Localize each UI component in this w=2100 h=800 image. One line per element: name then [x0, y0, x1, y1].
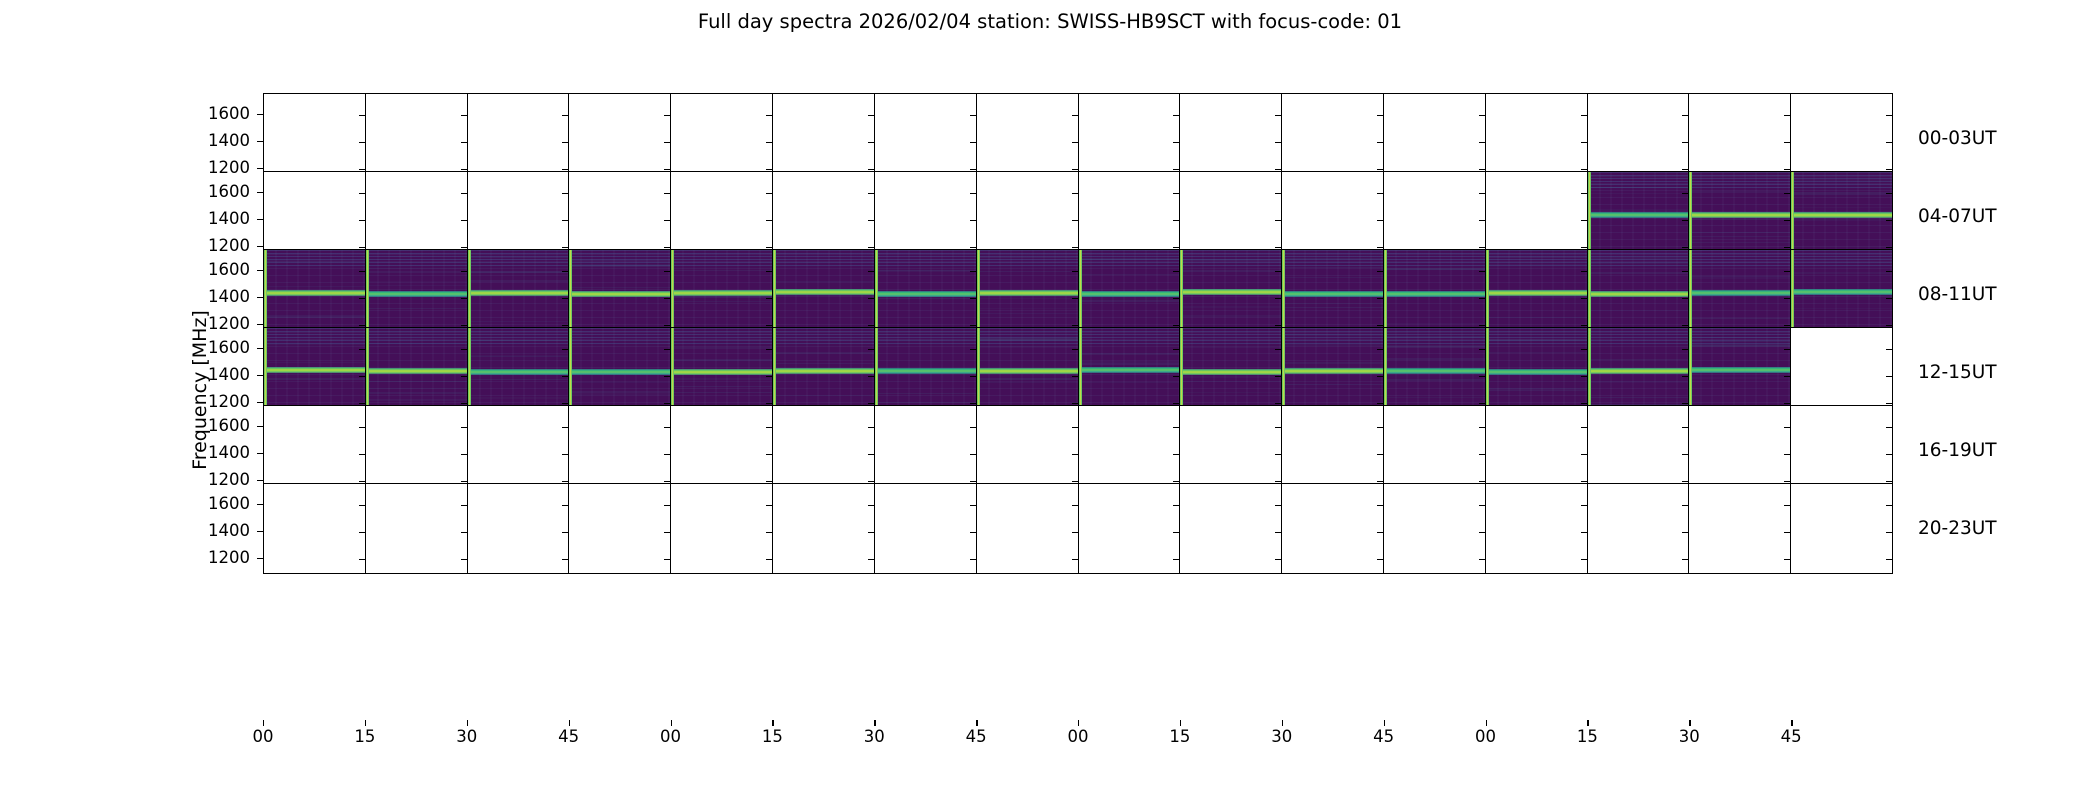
- spectrogram-interference-line: [1588, 310, 1689, 311]
- spectrogram-panel[interactable]: [671, 406, 773, 495]
- spectrogram-panel[interactable]: [1791, 94, 1892, 183]
- spectrogram-panel[interactable]: [1384, 484, 1486, 573]
- spectrogram-interference-line: [1282, 334, 1383, 336]
- panel-y-tick: [1072, 271, 1078, 272]
- panel-y-tick: [1072, 193, 1078, 194]
- spectrogram-panel[interactable]: [1791, 484, 1892, 573]
- panel-y-tick: [461, 505, 467, 506]
- spectrogram-empty: [468, 406, 569, 495]
- spectrogram-data: [264, 250, 365, 339]
- panel-y-tick: [1682, 427, 1688, 428]
- row-label-04-07ut: 04-07UT: [1918, 206, 1997, 228]
- calibration-stripe: [264, 328, 267, 417]
- spectrogram-panel[interactable]: [773, 484, 875, 573]
- panel-y-tick: [1173, 505, 1179, 506]
- panel-y-tick: [359, 298, 365, 299]
- spectrogram-data: [569, 328, 670, 417]
- spectrogram-empty: [671, 484, 772, 573]
- calibration-stripe: [366, 250, 369, 339]
- spectrogram-empty: [1588, 94, 1689, 183]
- panel-y-tick: [359, 505, 365, 506]
- spectrogram-empty: [671, 172, 772, 261]
- panel-y-tick: [359, 376, 365, 377]
- spectrogram-panel[interactable]: [875, 250, 977, 339]
- panel-y-tick: [1173, 532, 1179, 533]
- panel-y-tick: [664, 427, 670, 428]
- spectrogram-empty: [1588, 484, 1689, 573]
- spectrogram-panel[interactable]: [1079, 484, 1181, 573]
- spectrogram-panel[interactable]: [1486, 406, 1588, 495]
- spectrogram-panel[interactable]: [468, 406, 570, 495]
- panel-y-tick: [359, 142, 365, 143]
- spectrogram-interference-line: [1689, 191, 1790, 193]
- spectrogram-interference-line: [1588, 187, 1689, 188]
- spectrogram-panel[interactable]: [1486, 250, 1588, 339]
- spectrogram-panel[interactable]: [875, 94, 977, 183]
- spectrogram-panel[interactable]: [1689, 328, 1791, 417]
- calibration-stripe: [264, 250, 267, 339]
- calibration-stripe: [1079, 328, 1082, 417]
- spectrogram-interference-line: [569, 264, 670, 265]
- panel-y-tick: [1479, 559, 1485, 560]
- panel-y-tick: [461, 376, 467, 377]
- panel-y-tick: [1682, 193, 1688, 194]
- spectrogram-empty: [875, 484, 976, 573]
- hydrogen-line-band: [773, 368, 874, 374]
- spectrogram-panel[interactable]: [1588, 250, 1690, 339]
- calibration-stripe: [468, 328, 471, 417]
- spectrogram-interference-line: [366, 268, 467, 269]
- spectrogram-interference-line: [1384, 346, 1485, 348]
- panel-y-tick: [562, 271, 568, 272]
- panel-y-tick: [1173, 559, 1179, 560]
- spectrogram-panel[interactable]: [264, 328, 366, 417]
- panel-y-tick: [562, 559, 568, 560]
- spectrogram-empty: [977, 484, 1078, 573]
- y-tick-mark: [257, 192, 263, 193]
- spectrogram-interference-line: [468, 271, 569, 273]
- spectrogram-panel[interactable]: [1180, 406, 1282, 495]
- spectrogram-panel[interactable]: [1282, 250, 1384, 339]
- x-tick-mark: [1282, 720, 1283, 726]
- calibration-stripe: [773, 250, 776, 339]
- spectrogram-empty: [875, 406, 976, 495]
- panel-y-tick: [461, 115, 467, 116]
- spectrogram-panel[interactable]: [977, 94, 1079, 183]
- spectrogram-panel[interactable]: [671, 328, 773, 417]
- spectrogram-panel[interactable]: [1689, 250, 1791, 339]
- spectrogram-panel[interactable]: [366, 484, 468, 573]
- spectrogram-interference-line: [366, 285, 467, 286]
- panel-y-tick: [1072, 376, 1078, 377]
- spectrogram-panel[interactable]: [569, 406, 671, 495]
- hydrogen-line-band: [1486, 369, 1587, 375]
- spectrogram-panel[interactable]: [366, 406, 468, 495]
- spectrogram-panel[interactable]: [264, 406, 366, 495]
- spectrogram-data: [1791, 172, 1892, 261]
- panel-y-tick: [970, 532, 976, 533]
- spectrogram-interference-line: [977, 346, 1078, 348]
- spectrogram-panel[interactable]: [1282, 172, 1384, 261]
- panel-y-tick: [664, 220, 670, 221]
- calibration-stripe: [1384, 250, 1387, 339]
- x-tick-label: 00: [1466, 727, 1506, 746]
- spectrogram-interference-line: [1486, 352, 1587, 353]
- spectrogram-empty: [264, 484, 365, 573]
- spectrogram-panel[interactable]: [1384, 94, 1486, 183]
- spectrogram-upper-band-noise: [1079, 328, 1180, 344]
- spectrogram-panel[interactable]: [1791, 406, 1892, 495]
- spectrogram-data: [977, 328, 1078, 417]
- panel-y-tick: [1682, 559, 1688, 560]
- panel-y-tick: [461, 454, 467, 455]
- x-tick-label: 15: [1160, 727, 1200, 746]
- spectrogram-empty: [1282, 172, 1383, 261]
- spectrogram-empty: [1079, 172, 1180, 261]
- spectrogram-interference-line: [1791, 272, 1892, 274]
- panel-y-tick: [664, 271, 670, 272]
- panel-y-tick: [1173, 115, 1179, 116]
- spectrogram-panel[interactable]: [1791, 250, 1892, 339]
- spectrogram-empty: [468, 484, 569, 573]
- spectrogram-interference-line: [1791, 258, 1892, 259]
- spectrogram-panel[interactable]: [875, 484, 977, 573]
- panel-y-tick: [970, 142, 976, 143]
- spectrogram-panel[interactable]: [1689, 406, 1791, 495]
- spectrogram-panel[interactable]: [468, 94, 570, 183]
- panel-y-tick: [461, 559, 467, 560]
- panel-y-tick: [970, 454, 976, 455]
- spectrogram-panel[interactable]: [671, 94, 773, 183]
- spectrogram-data: [1180, 328, 1281, 417]
- spectrogram-interference-line: [977, 298, 1078, 299]
- spectrogram-interference-line: [1282, 307, 1383, 308]
- panel-y-tick: [1377, 115, 1383, 116]
- spectrogram-panel[interactable]: [569, 94, 671, 183]
- spectrogram-upper-band-noise: [1689, 250, 1790, 266]
- x-tick-label: 45: [956, 727, 996, 746]
- spectrogram-panel[interactable]: [1588, 172, 1690, 261]
- calibration-stripe: [1384, 328, 1387, 417]
- spectrogram-panel[interactable]: [977, 328, 1079, 417]
- spectrogram-panel[interactable]: [264, 94, 366, 183]
- panel-y-tick: [868, 115, 874, 116]
- panel-y-tick: [1377, 349, 1383, 350]
- spectrogram-empty: [1180, 484, 1281, 573]
- spectrogram-upper-band-noise: [977, 250, 1078, 266]
- spectrogram-interference-line: [1282, 303, 1383, 304]
- spectrogram-data: [1689, 328, 1790, 417]
- y-tick-label: 1200: [190, 549, 250, 567]
- panel-y-tick: [1784, 505, 1790, 506]
- spectrogram-interference-line: [1384, 336, 1485, 338]
- spectrogram-panel[interactable]: [1384, 406, 1486, 495]
- spectrogram-panel[interactable]: [1384, 328, 1486, 417]
- spectrogram-empty: [1384, 172, 1485, 261]
- spectrogram-panel[interactable]: [1282, 406, 1384, 495]
- hydrogen-line-band: [977, 290, 1078, 296]
- spectrogram-data: [977, 250, 1078, 339]
- spectrogram-panel[interactable]: [1180, 94, 1282, 183]
- panel-y-tick: [664, 532, 670, 533]
- spectrogram-panel[interactable]: [468, 172, 570, 261]
- panel-y-tick: [766, 454, 772, 455]
- spectrogram-empty: [1282, 406, 1383, 495]
- spectrogram-panel[interactable]: [1588, 484, 1690, 573]
- spectrogram-interference-line: [1689, 236, 1790, 237]
- panel-y-tick: [1072, 532, 1078, 533]
- spectrogram-panel[interactable]: [671, 250, 773, 339]
- calibration-stripe: [1180, 328, 1183, 417]
- x-tick-mark: [1587, 720, 1588, 726]
- panel-y-tick: [1682, 142, 1688, 143]
- spectrogram-panel[interactable]: [977, 406, 1079, 495]
- spectrogram-panel[interactable]: [1588, 328, 1690, 417]
- panel-y-tick: [868, 220, 874, 221]
- hydrogen-line-band: [1282, 291, 1383, 297]
- spectrogram-interference-line: [1486, 317, 1587, 318]
- hydrogen-line-band: [569, 369, 670, 375]
- calibration-stripe: [1486, 328, 1489, 417]
- hydrogen-line-band: [1588, 212, 1689, 218]
- spectrogram-panel[interactable]: [569, 328, 671, 417]
- spectrogram-empty: [1791, 484, 1892, 573]
- spectrogram-panel[interactable]: [1282, 94, 1384, 183]
- spectrogram-interference-line: [1689, 242, 1790, 243]
- spectrogram-upper-band-noise: [773, 328, 874, 344]
- spectrogram-panel[interactable]: [366, 328, 468, 417]
- spectrogram-panel[interactable]: [1588, 406, 1690, 495]
- spectrogram-data: [1180, 250, 1281, 339]
- spectrogram-panel[interactable]: [1588, 94, 1690, 183]
- panel-y-tick: [1479, 349, 1485, 350]
- spectrogram-panel[interactable]: [468, 250, 570, 339]
- x-tick-label: 30: [1669, 727, 1709, 746]
- panel-y-tick: [1886, 559, 1892, 560]
- panel-y-tick: [1377, 454, 1383, 455]
- y-tick-label: 1400: [190, 522, 250, 540]
- spectrogram-data: [1486, 328, 1587, 417]
- spectrogram-interference-line: [1486, 390, 1587, 391]
- panel-y-tick: [1377, 142, 1383, 143]
- spectrogram-panel[interactable]: [1180, 328, 1282, 417]
- spectrogram-panel[interactable]: [977, 172, 1079, 261]
- spectrogram-panel[interactable]: [1079, 328, 1181, 417]
- spectrogram-interference-line: [1791, 219, 1892, 221]
- spectrogram-panel[interactable]: [671, 172, 773, 261]
- spectrogram-panel[interactable]: [1079, 406, 1181, 495]
- x-tick-label: 15: [1567, 727, 1607, 746]
- spectrogram-empty: [569, 94, 670, 183]
- panel-y-tick: [461, 427, 467, 428]
- calibration-stripe: [569, 328, 572, 417]
- spectrogram-panel[interactable]: [264, 172, 366, 261]
- x-tick-label: 45: [1771, 727, 1811, 746]
- spectrogram-interference-line: [264, 317, 365, 318]
- panel-y-tick: [970, 298, 976, 299]
- spectrogram-data: [1791, 250, 1892, 339]
- panel-y-tick: [1072, 454, 1078, 455]
- spectrogram-panel[interactable]: [1282, 484, 1384, 573]
- panel-y-tick: [868, 376, 874, 377]
- spectrogram-panel[interactable]: [366, 172, 468, 261]
- spectrogram-panel[interactable]: [1486, 484, 1588, 573]
- spectrogram-panel[interactable]: [468, 328, 570, 417]
- spectrogram-panel[interactable]: [977, 484, 1079, 573]
- spectrogram-panel[interactable]: [875, 328, 977, 417]
- hydrogen-line-band: [1689, 212, 1790, 218]
- spectrogram-data: [366, 328, 467, 417]
- spectrogram-data: [1588, 172, 1689, 261]
- spectrogram-interference-line: [875, 393, 976, 394]
- spectrogram-interference-line: [366, 399, 467, 401]
- panel-y-tick: [1377, 505, 1383, 506]
- panel-y-tick: [766, 298, 772, 299]
- spectrogram-empty: [1689, 484, 1790, 573]
- panel-y-tick: [1886, 220, 1892, 221]
- spectrogram-interference-line: [671, 270, 772, 271]
- spectrogram-panel[interactable]: [569, 484, 671, 573]
- panel-y-tick: [1682, 376, 1688, 377]
- panel-y-tick: [1581, 298, 1587, 299]
- spectrogram-interference-line: [1588, 397, 1689, 398]
- spectrogram-data: [875, 328, 976, 417]
- spectrogram-interference-line: [1384, 379, 1485, 381]
- panel-y-tick: [461, 349, 467, 350]
- calibration-stripe: [1588, 250, 1591, 339]
- spectrogram-empty: [1689, 94, 1790, 183]
- spectrogram-panel[interactable]: [468, 484, 570, 573]
- spectrogram-interference-line: [1079, 382, 1180, 383]
- spectrogram-panel[interactable]: [1180, 484, 1282, 573]
- spectrogram-empty: [671, 406, 772, 495]
- panel-y-tick: [1377, 427, 1383, 428]
- spectrogram-interference-line: [1689, 219, 1790, 220]
- spectrogram-panel[interactable]: [264, 484, 366, 573]
- spectrogram-interference-line: [1180, 270, 1281, 272]
- panel-y-tick: [461, 193, 467, 194]
- spectrogram-data: [1689, 172, 1790, 261]
- panel-y-tick: [1784, 559, 1790, 560]
- spectrogram-interference-line: [1180, 347, 1281, 348]
- spectrogram-interference-line: [1588, 209, 1689, 211]
- spectrogram-panel[interactable]: [1486, 172, 1588, 261]
- spectrogram-panel[interactable]: [773, 250, 875, 339]
- panel-y-tick: [1581, 427, 1587, 428]
- spectrogram-panel[interactable]: [1689, 94, 1791, 183]
- hydrogen-line-band: [773, 289, 874, 295]
- panel-y-tick: [1275, 532, 1281, 533]
- spectrogram-empty: [1282, 94, 1383, 183]
- panel-y-tick: [1072, 505, 1078, 506]
- panel-y-tick: [359, 271, 365, 272]
- panel-y-tick: [1784, 454, 1790, 455]
- y-tick-label: 1400: [190, 444, 250, 462]
- spectrogram-panel[interactable]: [264, 250, 366, 339]
- spectrogram-panel[interactable]: [1384, 172, 1486, 261]
- spectrogram-panel[interactable]: [1791, 172, 1892, 261]
- spectrogram-empty: [468, 172, 569, 261]
- spectrogram-panel[interactable]: [1689, 172, 1791, 261]
- spectrogram-panel[interactable]: [1079, 250, 1181, 339]
- calibration-stripe: [366, 328, 369, 417]
- panel-y-tick: [1784, 532, 1790, 533]
- panel-y-tick: [1784, 142, 1790, 143]
- spectrogram-panel[interactable]: [366, 94, 468, 183]
- panel-y-tick: [1581, 220, 1587, 221]
- spectrogram-panel[interactable]: [1282, 328, 1384, 417]
- spectrogram-interference-line: [1180, 381, 1281, 382]
- x-tick-mark: [671, 720, 672, 726]
- spectrogram-panel[interactable]: [1486, 328, 1588, 417]
- panel-y-tick: [1275, 220, 1281, 221]
- spectrogram-interference-line: [1689, 277, 1790, 279]
- hydrogen-line-band: [468, 290, 569, 296]
- spectrogram-panel[interactable]: [569, 172, 671, 261]
- hydrogen-line-band: [264, 290, 365, 296]
- spectrogram-panel[interactable]: [773, 94, 875, 183]
- spectrogram-panel[interactable]: [366, 250, 468, 339]
- spectrogram-panel[interactable]: [569, 250, 671, 339]
- spectrogram-interference-line: [366, 343, 467, 344]
- y-tick-label: 1200: [190, 315, 250, 333]
- x-tick-mark: [772, 720, 773, 726]
- spectrogram-panel[interactable]: [1486, 94, 1588, 183]
- panel-y-tick: [1682, 220, 1688, 221]
- y-tick-mark: [257, 141, 263, 142]
- spectrogram-data: [1079, 250, 1180, 339]
- spectrogram-panel[interactable]: [875, 406, 977, 495]
- panel-y-tick: [359, 115, 365, 116]
- spectrogram-panel[interactable]: [1384, 250, 1486, 339]
- spectrogram-panel[interactable]: [1689, 484, 1791, 573]
- spectrogram-interference-line: [468, 340, 569, 341]
- spectrogram-panel[interactable]: [1079, 172, 1181, 261]
- spectrogram-panel[interactable]: [773, 172, 875, 261]
- spectrogram-data: [1588, 250, 1689, 339]
- spectrogram-panel[interactable]: [1791, 328, 1892, 417]
- spectrogram-panel[interactable]: [977, 250, 1079, 339]
- panel-y-tick: [970, 193, 976, 194]
- spectrogram-empty: [1079, 484, 1180, 573]
- spectrogram-panel[interactable]: [773, 328, 875, 417]
- panel-y-tick: [868, 271, 874, 272]
- spectrogram-panel[interactable]: [1180, 250, 1282, 339]
- spectrogram-interference-line: [1486, 264, 1587, 265]
- panel-y-tick: [359, 193, 365, 194]
- spectrogram-panel[interactable]: [1079, 94, 1181, 183]
- panel-y-tick: [1173, 271, 1179, 272]
- spectrogram-interference-line: [366, 281, 467, 282]
- spectrogram-panel[interactable]: [875, 172, 977, 261]
- spectrogram-panel[interactable]: [671, 484, 773, 573]
- panel-y-tick: [1479, 532, 1485, 533]
- x-tick-mark: [1486, 720, 1487, 726]
- panel-y-tick: [1275, 427, 1281, 428]
- spectrogram-panel[interactable]: [773, 406, 875, 495]
- panel-y-tick: [359, 532, 365, 533]
- spectrogram-interference-line: [773, 281, 874, 282]
- spectrogram-panel[interactable]: [1180, 172, 1282, 261]
- panel-y-tick: [1275, 193, 1281, 194]
- hydrogen-line-band: [1689, 290, 1790, 296]
- panel-y-tick: [1886, 142, 1892, 143]
- row-label-20-23ut: 20-23UT: [1918, 518, 1997, 540]
- panel-y-tick: [1072, 427, 1078, 428]
- panel-y-tick: [1479, 193, 1485, 194]
- panel-y-tick: [1581, 376, 1587, 377]
- spectrogram-data: [773, 328, 874, 417]
